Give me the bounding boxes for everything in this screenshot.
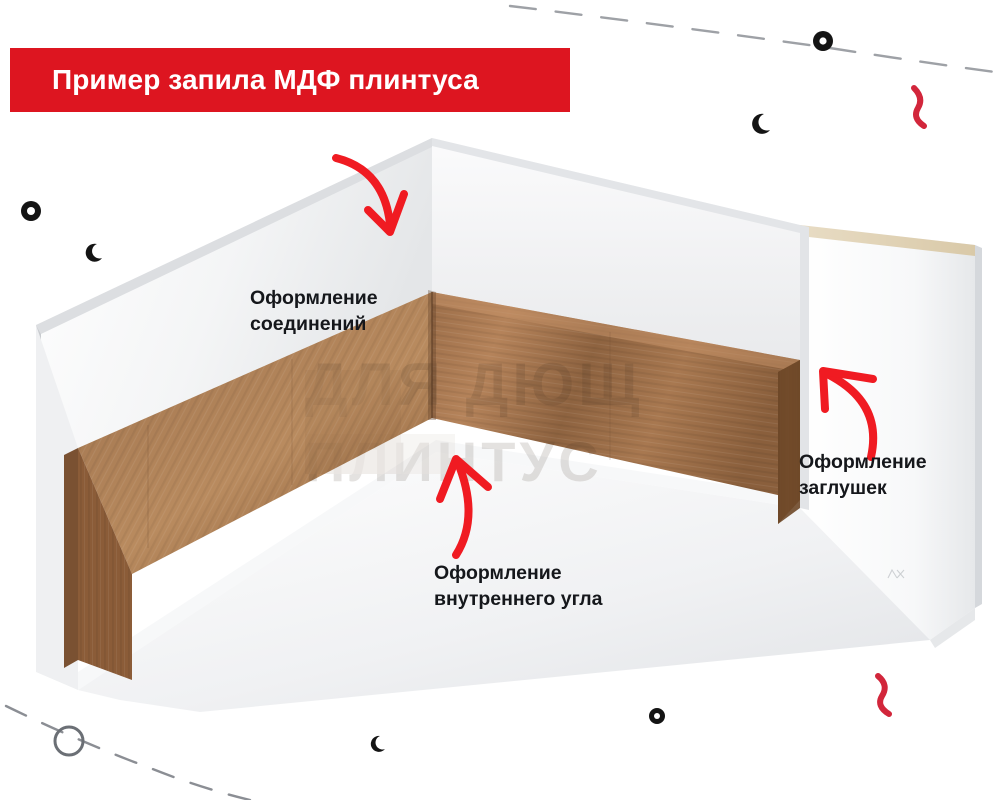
callout-inner-corner: Оформление внутреннего угла (434, 561, 602, 612)
arrow-to-end-cap (795, 345, 915, 465)
callout-end-caps: Оформление заглушек (799, 450, 927, 501)
callout-caps-line2: заглушек (799, 476, 927, 502)
inner-corner-seam (428, 290, 436, 420)
arrow-to-joints (322, 140, 432, 250)
poster-canvas: ДЛЯ ДЮЩ ПЛИНТУС (0, 0, 1000, 800)
page-title: Пример запила МДФ плинтуса (10, 64, 479, 96)
embossed-logo-mark (884, 566, 910, 584)
callout-joints-line2: соединений (250, 312, 378, 338)
callout-inner-line2: внутреннего угла (434, 587, 602, 613)
callout-inner-line1: Оформление (434, 561, 602, 587)
callout-caps-line1: Оформление (799, 450, 927, 476)
callout-joints-line1: Оформление (250, 286, 378, 312)
arrow-to-inner-corner (404, 443, 524, 563)
callout-joints: Оформление соединений (250, 286, 378, 337)
title-banner: Пример запила МДФ плинтуса (10, 48, 570, 112)
